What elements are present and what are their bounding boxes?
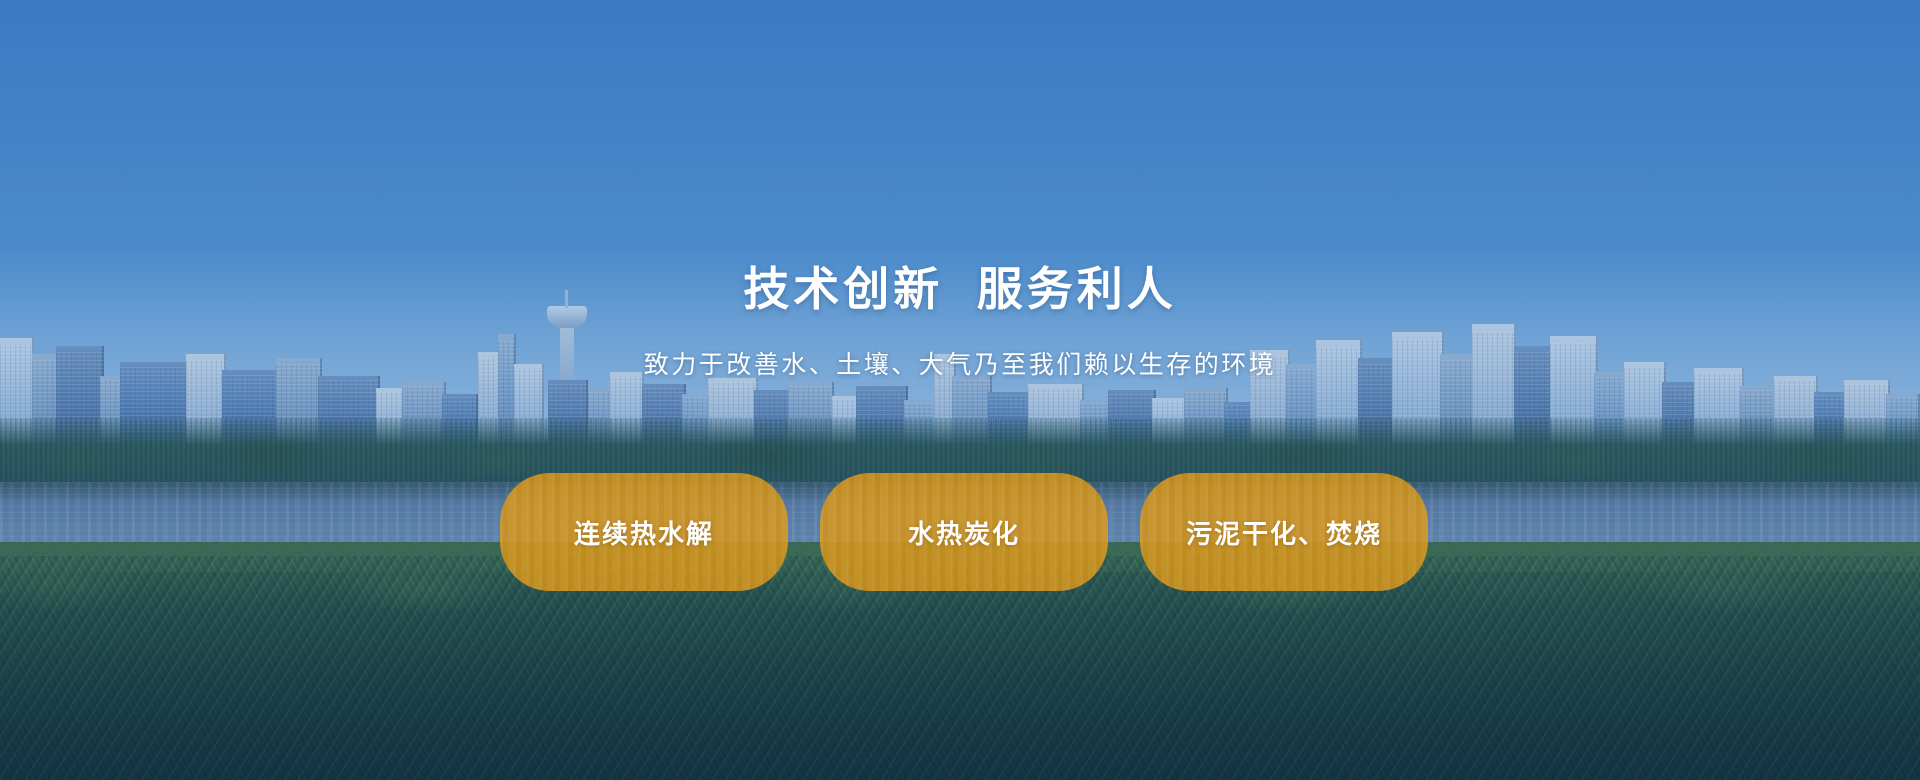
hero-button-hydrothermal-carbonization[interactable]: 水热炭化: [820, 473, 1108, 591]
hero-button-sludge-drying-incineration[interactable]: 污泥干化、焚烧: [1140, 473, 1428, 591]
hero-button-row: 连续热水解 水热炭化 污泥干化、焚烧: [500, 473, 1428, 591]
hero-headline: 技术创新 服务利人: [0, 263, 1920, 316]
hero-button-label: 污泥干化、焚烧: [1186, 514, 1382, 551]
hero-button-label: 水热炭化: [908, 514, 1020, 551]
hero-button-label: 连续热水解: [574, 514, 714, 551]
hero-content: 技术创新 服务利人 致力于改善水、土壤、大气乃至我们赖以生存的环境 连续热水解 …: [0, 0, 1920, 780]
hero-button-continuous-thermal-hydrolysis[interactable]: 连续热水解: [500, 473, 788, 591]
hero-subheadline: 致力于改善水、土壤、大气乃至我们赖以生存的环境: [0, 345, 1920, 381]
hero-banner: 技术创新 服务利人 致力于改善水、土壤、大气乃至我们赖以生存的环境 连续热水解 …: [0, 0, 1920, 780]
